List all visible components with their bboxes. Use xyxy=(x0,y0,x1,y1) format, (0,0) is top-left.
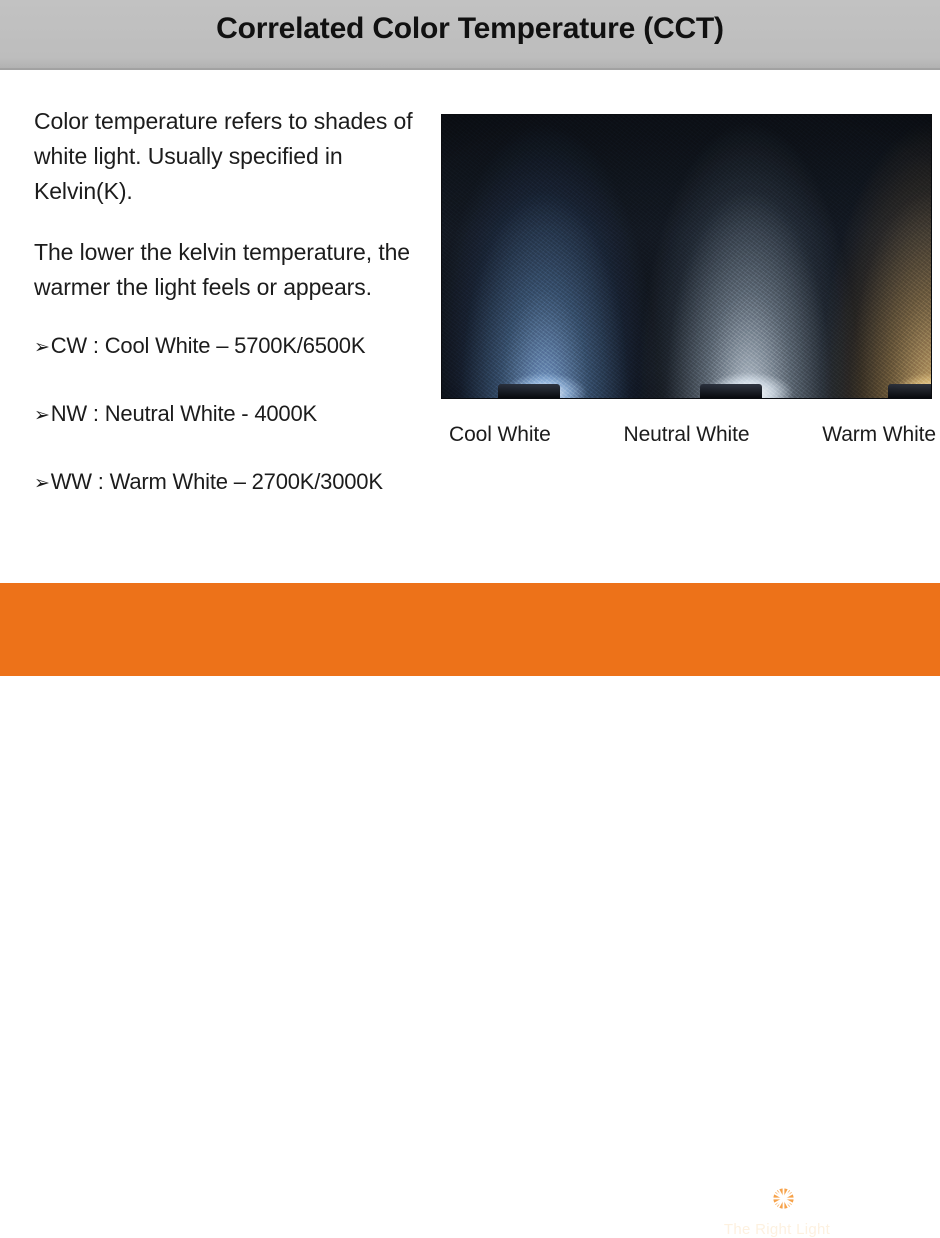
cct-comparison-photo xyxy=(441,114,932,399)
brand-tagline: The Right Light xyxy=(646,1221,908,1238)
list-item-label: NW : Neutral White - 4000K xyxy=(51,399,317,429)
list-item-label: CW : Cool White – 5700K/6500K xyxy=(51,331,366,361)
page-title: Correlated Color Temperature (CCT) xyxy=(0,12,940,46)
brand-logo: HAL xyxy=(646,1179,908,1238)
intro-paragraph-1: Color temperature refers to shades of wh… xyxy=(34,104,424,209)
photo-caption-row: Cool White Neutral White Warm White xyxy=(441,423,936,447)
list-item: ➢ NW : Neutral White - 4000K xyxy=(34,399,424,431)
list-item: ➢ CW : Cool White – 5700K/6500K xyxy=(34,331,424,363)
cool-white-fixture xyxy=(498,384,560,398)
arrow-bullet-icon: ➢ xyxy=(34,401,50,431)
cct-bullet-list: ➢ CW : Cool White – 5700K/6500K ➢ NW : N… xyxy=(34,331,424,499)
slide-header-bar: Correlated Color Temperature (CCT) xyxy=(0,0,940,70)
wall-texture-overlay xyxy=(442,115,931,398)
arrow-bullet-icon: ➢ xyxy=(34,469,50,499)
text-content-column: Color temperature refers to shades of wh… xyxy=(34,104,424,535)
sunburst-icon xyxy=(770,1184,797,1211)
caption-warm-white: Warm White xyxy=(822,423,936,447)
caption-cool-white: Cool White xyxy=(449,423,551,447)
caption-neutral-white: Neutral White xyxy=(624,423,750,447)
list-item-label: WW : Warm White – 2700K/3000K xyxy=(51,467,383,497)
footer-bar: HAL xyxy=(0,583,940,676)
brand-wordmark: HAL xyxy=(646,1179,908,1213)
list-item: ➢ WW : Warm White – 2700K/3000K xyxy=(34,467,424,499)
arrow-bullet-icon: ➢ xyxy=(34,333,50,363)
intro-paragraph-2: The lower the kelvin temperature, the wa… xyxy=(34,235,424,305)
brand-text-second: NIX xyxy=(798,1180,859,1213)
neutral-white-fixture xyxy=(700,384,762,398)
brand-text-first: HAL xyxy=(695,1180,769,1213)
warm-white-fixture xyxy=(888,384,932,398)
